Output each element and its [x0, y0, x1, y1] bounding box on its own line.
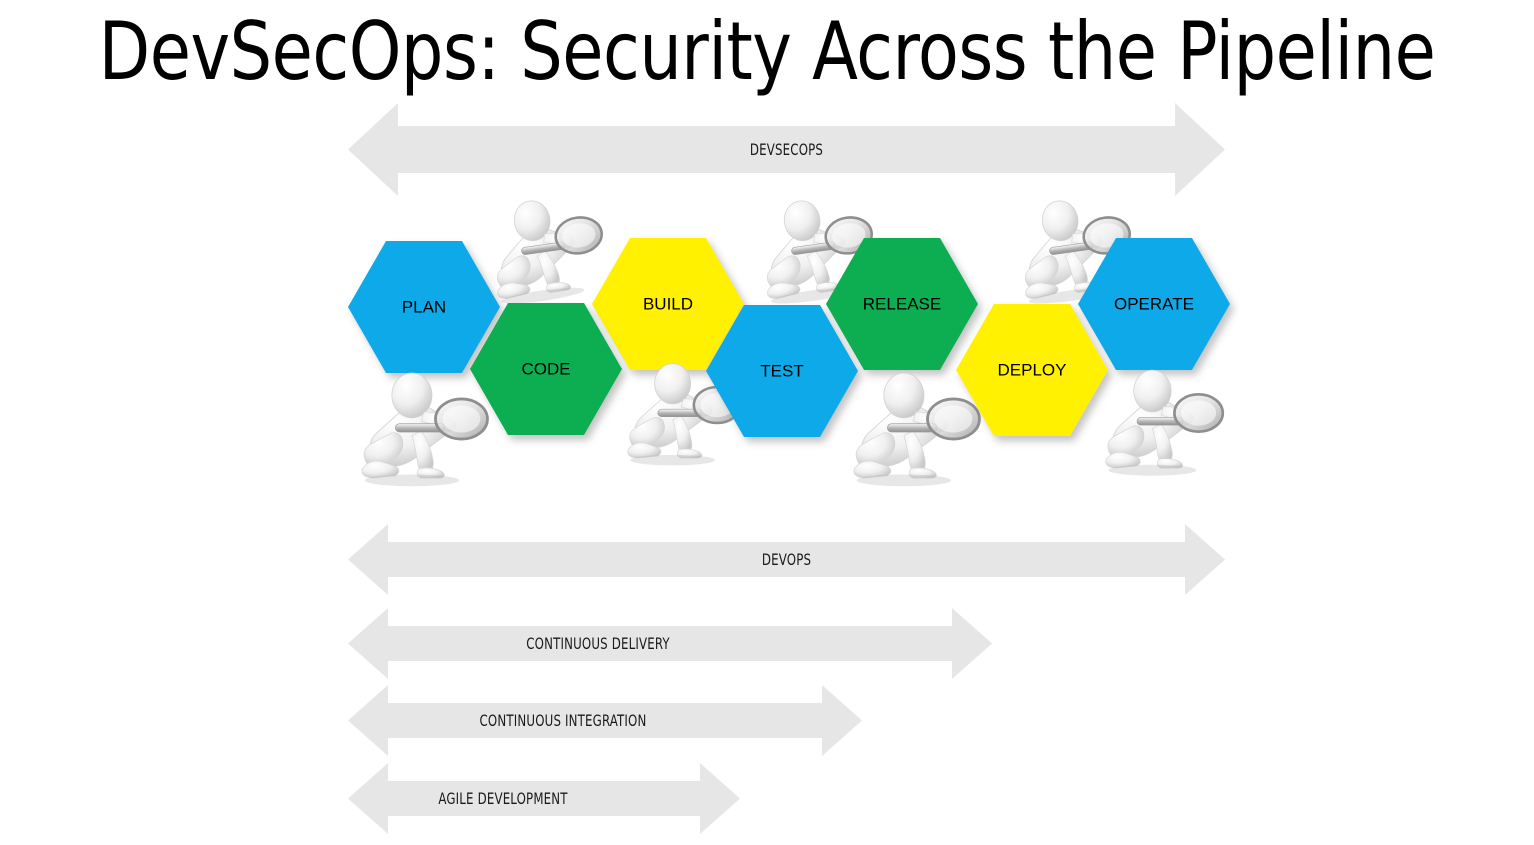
- hexagon-operate[interactable]: OPERATE: [1078, 238, 1230, 370]
- hexagon-operate-label: OPERATE: [1114, 294, 1194, 313]
- hexagon-deploy[interactable]: DEPLOY: [956, 304, 1108, 436]
- arrow-agile-development: AGILE DEVELOPMENT: [348, 763, 740, 834]
- hexagon-build-label: BUILD: [643, 294, 693, 313]
- hexagon-test-label: TEST: [760, 361, 803, 380]
- arrow-agile-development-label: AGILE DEVELOPMENT: [376, 763, 630, 834]
- arrow-continuous-integration: CONTINUOUS INTEGRATION: [348, 685, 862, 756]
- hexagon-code-label: CODE: [521, 359, 570, 378]
- inspector-figure-6: [854, 373, 979, 486]
- arrow-continuous-delivery: CONTINUOUS DELIVERY: [348, 608, 992, 679]
- arrow-devops: DEVOPS: [348, 524, 1225, 595]
- arrow-devsecops-label: DEVSECOPS: [427, 103, 1146, 196]
- arrow-devsecops: DEVSECOPS: [348, 103, 1225, 196]
- arrow-devops-label: DEVOPS: [427, 524, 1146, 595]
- arrow-continuous-integration-label: CONTINUOUS INTEGRATION: [387, 685, 740, 756]
- hexagon-release[interactable]: RELEASE: [826, 238, 978, 370]
- inspector-figure-2: [362, 373, 487, 486]
- page-title: DevSecOps: Security Across the Pipeline: [54, 4, 1481, 100]
- inspector-figure-7: [1106, 370, 1223, 476]
- arrow-continuous-delivery-label: CONTINUOUS DELIVERY: [393, 608, 803, 679]
- hexagon-plan[interactable]: PLAN: [348, 241, 500, 373]
- hexagon-deploy-label: DEPLOY: [998, 360, 1067, 379]
- inspector-figure-1: [485, 192, 610, 307]
- hexagon-release-label: RELEASE: [863, 294, 941, 313]
- hexagon-code[interactable]: CODE: [470, 303, 622, 435]
- hexagon-plan-label: PLAN: [402, 297, 446, 316]
